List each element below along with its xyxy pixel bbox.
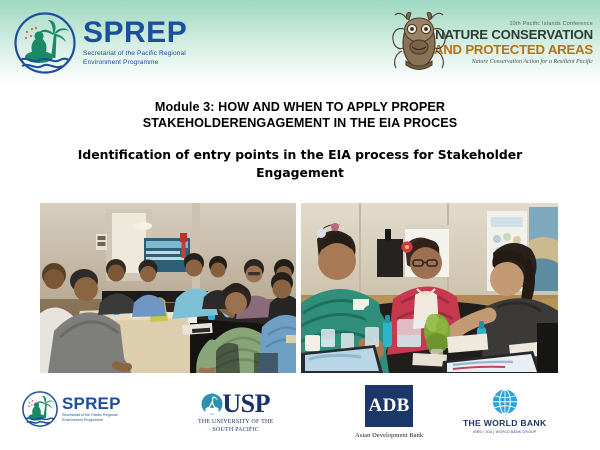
usp-emblem-icon [201,393,223,415]
conference-logo: 10th Pacific Islands Conference NATURE C… [388,4,593,82]
world-bank-globe-icon [490,386,520,416]
world-bank-wordmark: THE WORLD BANK [463,418,546,428]
slide-title-line1: Module 3: HOW AND WHEN TO APPLY PROPER [60,99,540,115]
workshop-group-discussion-photo [40,203,296,373]
conference-mask-icon [388,7,450,79]
slide-subtitle-line2: Engagement [55,164,545,182]
sprep-tagline-line1: Secretariat of the Pacific Regional [83,50,187,59]
adb-mark-icon: ADB [365,385,413,427]
partner-logo-sprep: SPREP Secretariat of the Pacific Regiona… [22,391,121,427]
sprep-header-logo: SPREP Secretariat of the Pacific Regiona… [14,9,254,77]
adb-wordmark: ADB [369,395,410,417]
usp-sub-line1: THE UNIVERSITY OF THE [198,419,273,427]
slide-title: Module 3: HOW AND WHEN TO APPLY PROPER S… [60,99,540,131]
presentation-slide: SPREP Secretariat of the Pacific Regiona… [0,0,600,450]
partner-logo-adb: ADB Asian Development Bank [355,385,423,439]
partner-logo-world-bank: THE WORLD BANK IBRD • IDA | WORLD BANK G… [463,386,546,434]
sprep-footer-tagline-line2: Environment Programme [62,418,121,423]
conference-title-line1: NATURE CONSERVATION [435,28,593,42]
sprep-footer-wordmark: SPREP [62,395,121,412]
sprep-emblem-icon [14,12,76,74]
slide-title-line2: STAKEHOLDERENGAGEMENT IN THE EIA PROCES [60,115,540,131]
sprep-emblem-icon-small [22,391,58,427]
partner-logo-row: SPREP Secretariat of the Pacific Regiona… [0,383,600,447]
usp-sub-line2: SOUTH PACIFIC [198,427,273,435]
slide-subtitle: Identification of entry points in the EI… [55,146,545,182]
slide-subtitle-line1: Identification of entry points in the EI… [55,146,545,164]
adb-sub-label: Asian Development Bank [355,432,423,439]
conference-title-line2: AND PROTECTED AREAS [434,43,593,57]
usp-wordmark: USP [222,391,270,417]
world-bank-sub-label: IBRD • IDA | WORLD BANK GROUP [473,430,536,434]
conference-tagline: Nature Conservation Action for a Resilie… [472,59,593,65]
conference-pretitle: 10th Pacific Islands Conference [509,21,593,27]
sprep-wordmark: SPREP [83,18,187,48]
women-roundtable-discussion-photo [301,203,558,373]
sprep-tagline-line2: Environment Programme [83,59,187,68]
partner-logo-usp: USP THE UNIVERSITY OF THE SOUTH PACIFIC [198,391,273,434]
